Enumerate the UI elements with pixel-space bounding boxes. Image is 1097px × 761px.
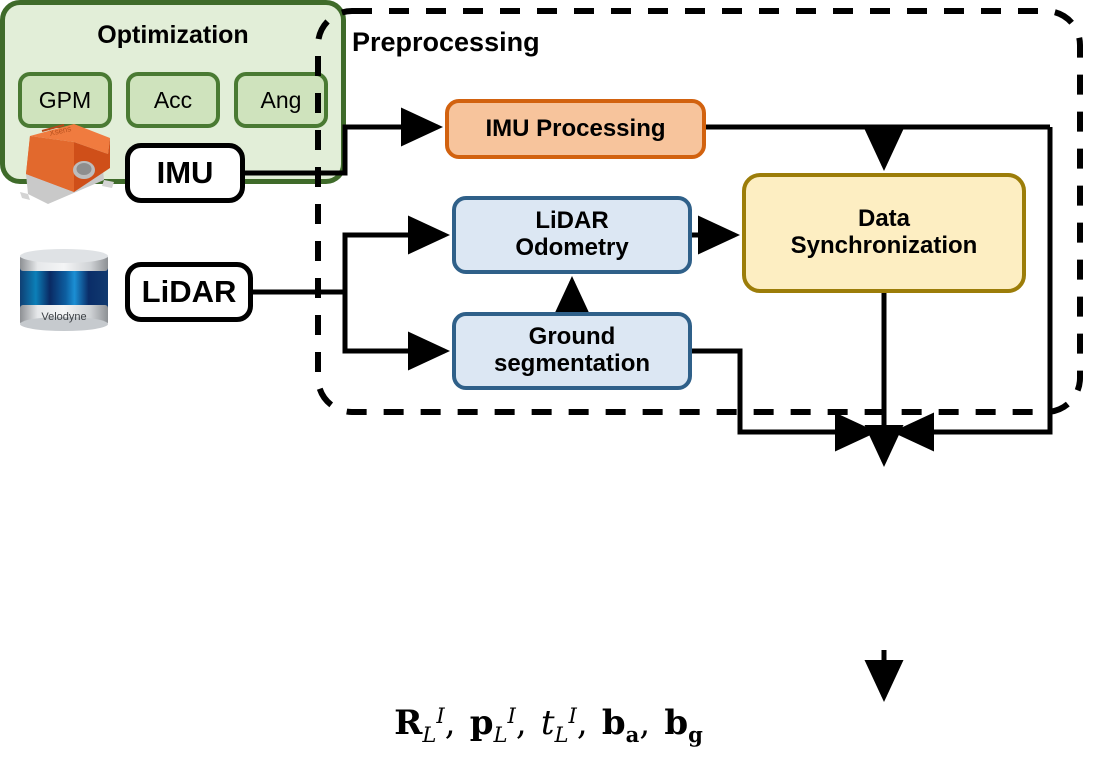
node-ground-segmentation-line1: Ground xyxy=(494,324,650,351)
diagram-canvas: Xsens xyxy=(0,0,1097,761)
imu-sensor-image: Xsens xyxy=(12,108,116,208)
wire-imu-to-processing xyxy=(245,127,438,173)
wire-lidar-to-ground xyxy=(345,292,445,351)
node-data-synchronization-line2: Synchronization xyxy=(791,233,978,260)
node-imu-processing-label: IMU Processing xyxy=(485,116,665,143)
node-ground-segmentation[interactable]: Ground segmentation xyxy=(452,312,692,390)
output-term-p: pLI xyxy=(470,703,516,743)
node-ground-segmentation-line2: segmentation xyxy=(494,351,650,378)
node-data-synchronization-line1: Data xyxy=(791,206,978,233)
wire-ground-to-junction xyxy=(692,351,872,432)
output-term-ba: ba xyxy=(602,703,639,743)
node-lidar-odometry[interactable]: LiDAR Odometry xyxy=(452,196,692,274)
node-lidar-odometry-line1: LiDAR xyxy=(515,208,628,235)
node-lidar-odometry-line2: Odometry xyxy=(515,235,628,262)
lidar-sensor-image: Velodyne xyxy=(12,247,116,333)
output-formula: RLI, pLI, tLI, ba, bg xyxy=(0,703,1097,747)
output-term-t: tLI xyxy=(541,703,577,743)
node-lidar[interactable]: LiDAR xyxy=(125,262,253,322)
output-term-R: RLI xyxy=(394,703,445,743)
node-lidar-label: LiDAR xyxy=(142,275,237,310)
node-imu-label: IMU xyxy=(157,156,214,191)
svg-text:Velodyne: Velodyne xyxy=(41,311,86,323)
preprocessing-label: Preprocessing xyxy=(352,27,540,58)
output-term-bg: bg xyxy=(664,703,703,743)
node-imu[interactable]: IMU xyxy=(125,143,245,203)
node-data-synchronization[interactable]: Data Synchronization xyxy=(742,173,1026,293)
node-imu-processing[interactable]: IMU Processing xyxy=(445,99,706,159)
wire-lidar-to-odometry xyxy=(345,235,445,292)
